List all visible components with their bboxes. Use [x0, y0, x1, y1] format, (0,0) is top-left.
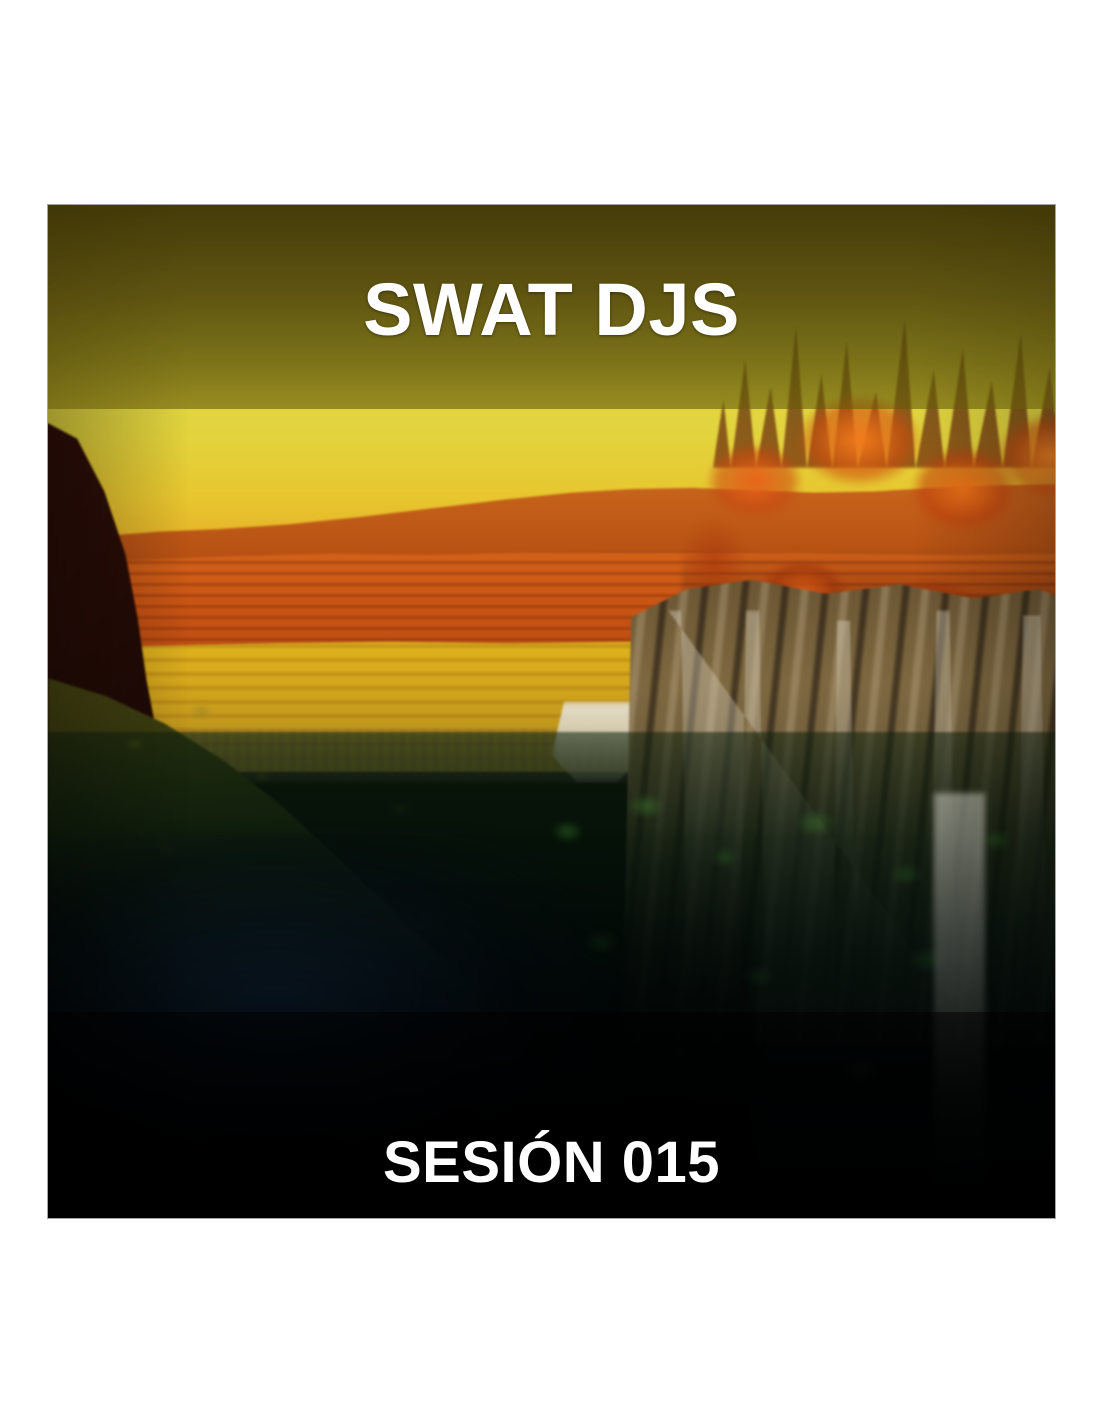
- page-root: SWAT DJS SESIÓN 015: [0, 0, 1100, 1422]
- waterfall-streak: [934, 793, 984, 1198]
- gorge-shadow: [48, 833, 753, 1218]
- album-cover-artwork: SWAT DJS SESIÓN 015: [48, 205, 1055, 1218]
